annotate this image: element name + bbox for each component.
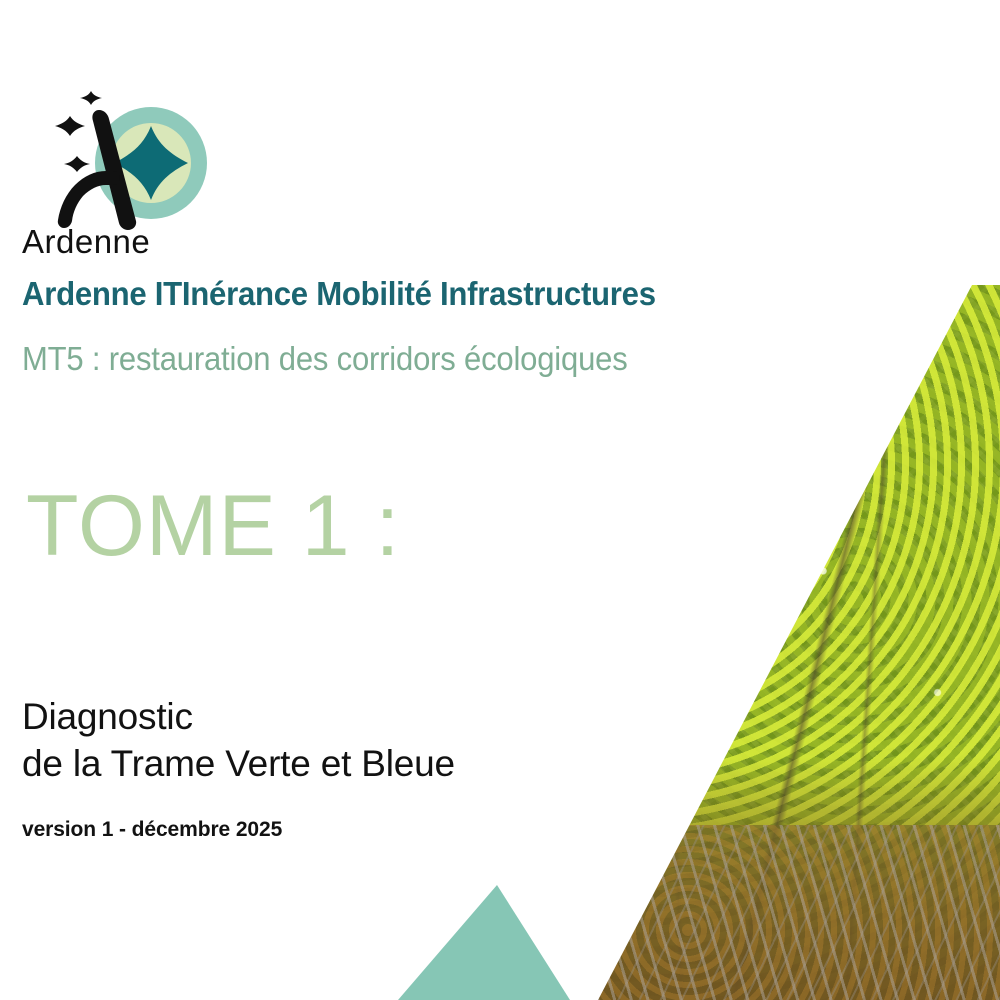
logo-wordmark: Ardenne [22, 223, 150, 260]
document-title-line-2: de la Trame Verte et Bleue [22, 743, 455, 784]
page-subtitle: MT5 : restauration des corridors écologi… [22, 340, 628, 378]
version-label: version 1 - décembre 2025 [22, 818, 282, 842]
ardenne-logo: Ardenne [20, 78, 220, 263]
cover-photo-forest-floor [480, 825, 1000, 1000]
logo-sparkles [55, 91, 102, 172]
document-title: Diagnostic de la Trame Verte et Bleue [22, 694, 455, 788]
document-title-line-1: Diagnostic [22, 696, 193, 737]
volume-label: TOME 1 : [26, 483, 400, 569]
cover-page: Ardenne Ardenne ITInérance Mobilité Infr… [0, 0, 1000, 1000]
cover-photo-image [480, 285, 1000, 1000]
page-title: Ardenne ITInérance Mobilité Infrastructu… [22, 276, 656, 314]
